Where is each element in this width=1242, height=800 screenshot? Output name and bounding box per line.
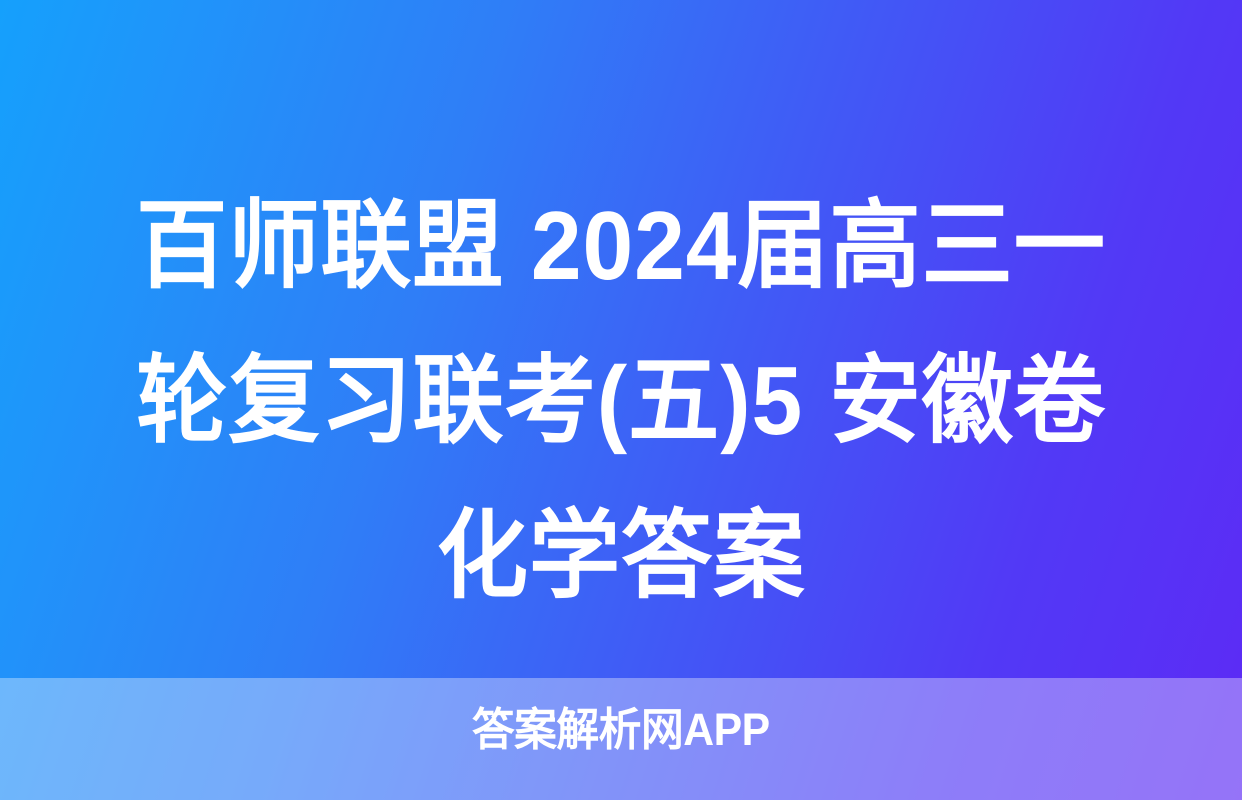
watermark: 答案解析网APP	[0, 704, 1242, 756]
watermark-label: 答案解析网APP	[472, 704, 770, 756]
page-title-line-3: 化学答案	[60, 478, 1182, 633]
page-title-line-2: 轮复习联考(五)5 安徽卷	[60, 323, 1182, 478]
poster-canvas: 百师联盟 2024届高三一 轮复习联考(五)5 安徽卷 化学答案 答案解析网AP…	[0, 0, 1242, 800]
page-title-line-1: 百师联盟 2024届高三一	[60, 168, 1182, 323]
page-title: 百师联盟 2024届高三一 轮复习联考(五)5 安徽卷 化学答案	[0, 168, 1242, 633]
